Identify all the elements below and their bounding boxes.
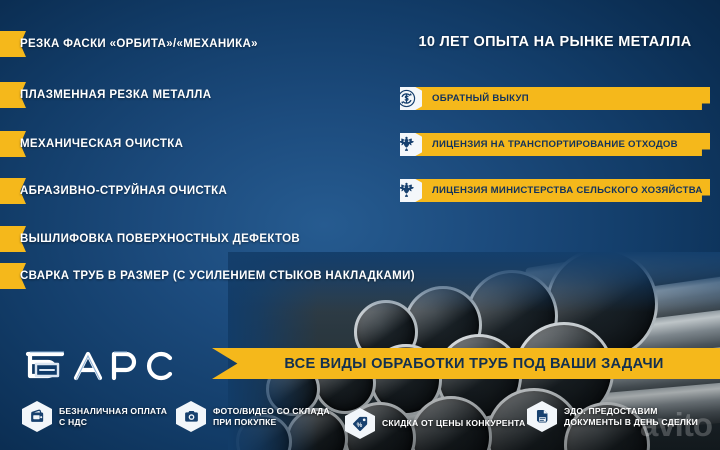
feature-line2: ПРИ ПОКУПКЕ bbox=[213, 417, 330, 428]
badge-label: ЛИЦЕНЗИЯ НА ТРАНСПОРТИРОВАНИЕ ОТХОДОВ bbox=[432, 139, 678, 150]
document-icon bbox=[527, 401, 557, 432]
ribbon-text: ВСЕ ВИДЫ ОБРАБОТКИ ТРУБ ПОД ВАШИ ЗАДАЧИ bbox=[268, 356, 663, 372]
svg-text:%: % bbox=[356, 422, 362, 429]
wallet-icon bbox=[22, 401, 52, 432]
feature-text: ФОТО/ВИДЕО СО СКЛАДА ПРИ ПОКУПКЕ bbox=[213, 406, 330, 428]
service-label: АБРАЗИВНО-СТРУЙНАЯ ОЧИСТКА bbox=[20, 185, 227, 197]
feature-line1: ФОТО/ВИДЕО СО СКЛАДА bbox=[213, 406, 330, 417]
advertisement-banner: РЕЗКА ФАСКИ «ОРБИТА»/«МЕХАНИКА» ПЛАЗМЕНН… bbox=[0, 0, 720, 450]
feature-line1: БЕЗНАЛИЧНАЯ ОПЛАТА bbox=[59, 406, 167, 417]
feature-line2: С НДС bbox=[59, 417, 167, 428]
feature-text: БЕЗНАЛИЧНАЯ ОПЛАТА С НДС bbox=[59, 406, 167, 428]
price-tag-icon: % bbox=[345, 408, 375, 439]
photo-top-fade bbox=[228, 252, 720, 312]
bars-logo bbox=[20, 344, 192, 388]
badge-label: ОБРАТНЫЙ ВЫКУП bbox=[432, 93, 529, 104]
service-label: СВАРКА ТРУБ В РАЗМЕР (С УСИЛЕНИЕМ СТЫКОВ… bbox=[20, 270, 415, 282]
service-label: ВЫШЛИФОВКА ПОВЕРХНОСТНЫХ ДЕФЕКТОВ bbox=[20, 233, 300, 245]
badge-agriculture-license: ЛИЦЕНЗИЯ МИНИСТЕРСТВА СЕЛЬСКОГО ХОЗЯЙСТВ… bbox=[400, 179, 710, 202]
avito-watermark: avito bbox=[640, 406, 712, 444]
badge-label: ЛИЦЕНЗИЯ МИНИСТЕРСТВА СЕЛЬСКОГО ХОЗЯЙСТВ… bbox=[432, 185, 703, 196]
badge-waste-license: ЛИЦЕНЗИЯ НА ТРАНСПОРТИРОВАНИЕ ОТХОДОВ bbox=[400, 133, 710, 156]
main-ribbon-banner: ВСЕ ВИДЫ ОБРАБОТКИ ТРУБ ПОД ВАШИ ЗАДАЧИ bbox=[212, 348, 720, 379]
badge-buyback: ОБРАТНЫЙ ВЫКУП bbox=[400, 87, 710, 110]
service-label: ПЛАЗМЕННАЯ РЕЗКА МЕТАЛЛА bbox=[20, 89, 211, 101]
service-label: РЕЗКА ФАСКИ «ОРБИТА»/«МЕХАНИКА» bbox=[20, 38, 258, 50]
feature-competitor-discount: % СКИДКА ОТ ЦЕНЫ КОНКУРЕНТА bbox=[345, 408, 525, 439]
camera-icon bbox=[176, 401, 206, 432]
page-title: 10 ЛЕТ ОПЫТА НА РЫНКЕ МЕТАЛЛА bbox=[400, 34, 710, 50]
feature-text: СКИДКА ОТ ЦЕНЫ КОНКУРЕНТА bbox=[382, 418, 525, 429]
feature-cashless-payment: БЕЗНАЛИЧНАЯ ОПЛАТА С НДС bbox=[22, 401, 167, 432]
service-label: МЕХАНИЧЕСКАЯ ОЧИСТКА bbox=[20, 138, 183, 150]
feature-line1: СКИДКА ОТ ЦЕНЫ КОНКУРЕНТА bbox=[382, 418, 525, 429]
feature-photo-video: ФОТО/ВИДЕО СО СКЛАДА ПРИ ПОКУПКЕ bbox=[176, 401, 330, 432]
